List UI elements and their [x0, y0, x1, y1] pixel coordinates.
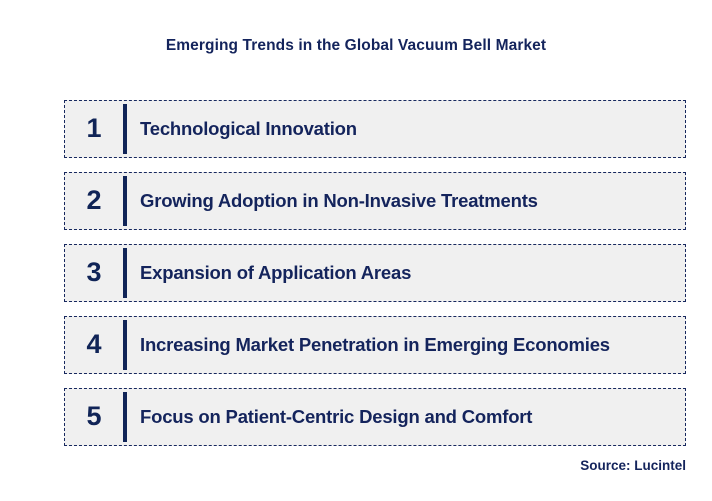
- trend-label: Focus on Patient-Centric Design and Comf…: [127, 406, 685, 428]
- trend-list: 1 Technological Innovation 2 Growing Ado…: [64, 100, 686, 446]
- trend-number: 4: [65, 331, 123, 360]
- infographic-canvas: Emerging Trends in the Global Vacuum Bel…: [0, 0, 712, 501]
- trend-number: 2: [65, 187, 123, 216]
- list-item[interactable]: 4 Increasing Market Penetration in Emerg…: [64, 316, 686, 374]
- trend-label: Technological Innovation: [127, 118, 685, 140]
- trend-label: Growing Adoption in Non-Invasive Treatme…: [127, 190, 685, 212]
- trend-number: 1: [65, 115, 123, 144]
- trend-label: Expansion of Application Areas: [127, 262, 685, 284]
- list-item[interactable]: 3 Expansion of Application Areas: [64, 244, 686, 302]
- trend-number: 3: [65, 259, 123, 288]
- source-attribution: Source: Lucintel: [580, 458, 686, 473]
- list-item[interactable]: 5 Focus on Patient-Centric Design and Co…: [64, 388, 686, 446]
- page-title: Emerging Trends in the Global Vacuum Bel…: [0, 37, 712, 55]
- list-item[interactable]: 1 Technological Innovation: [64, 100, 686, 158]
- list-item[interactable]: 2 Growing Adoption in Non-Invasive Treat…: [64, 172, 686, 230]
- trend-label: Increasing Market Penetration in Emergin…: [127, 334, 685, 356]
- trend-number: 5: [65, 403, 123, 432]
